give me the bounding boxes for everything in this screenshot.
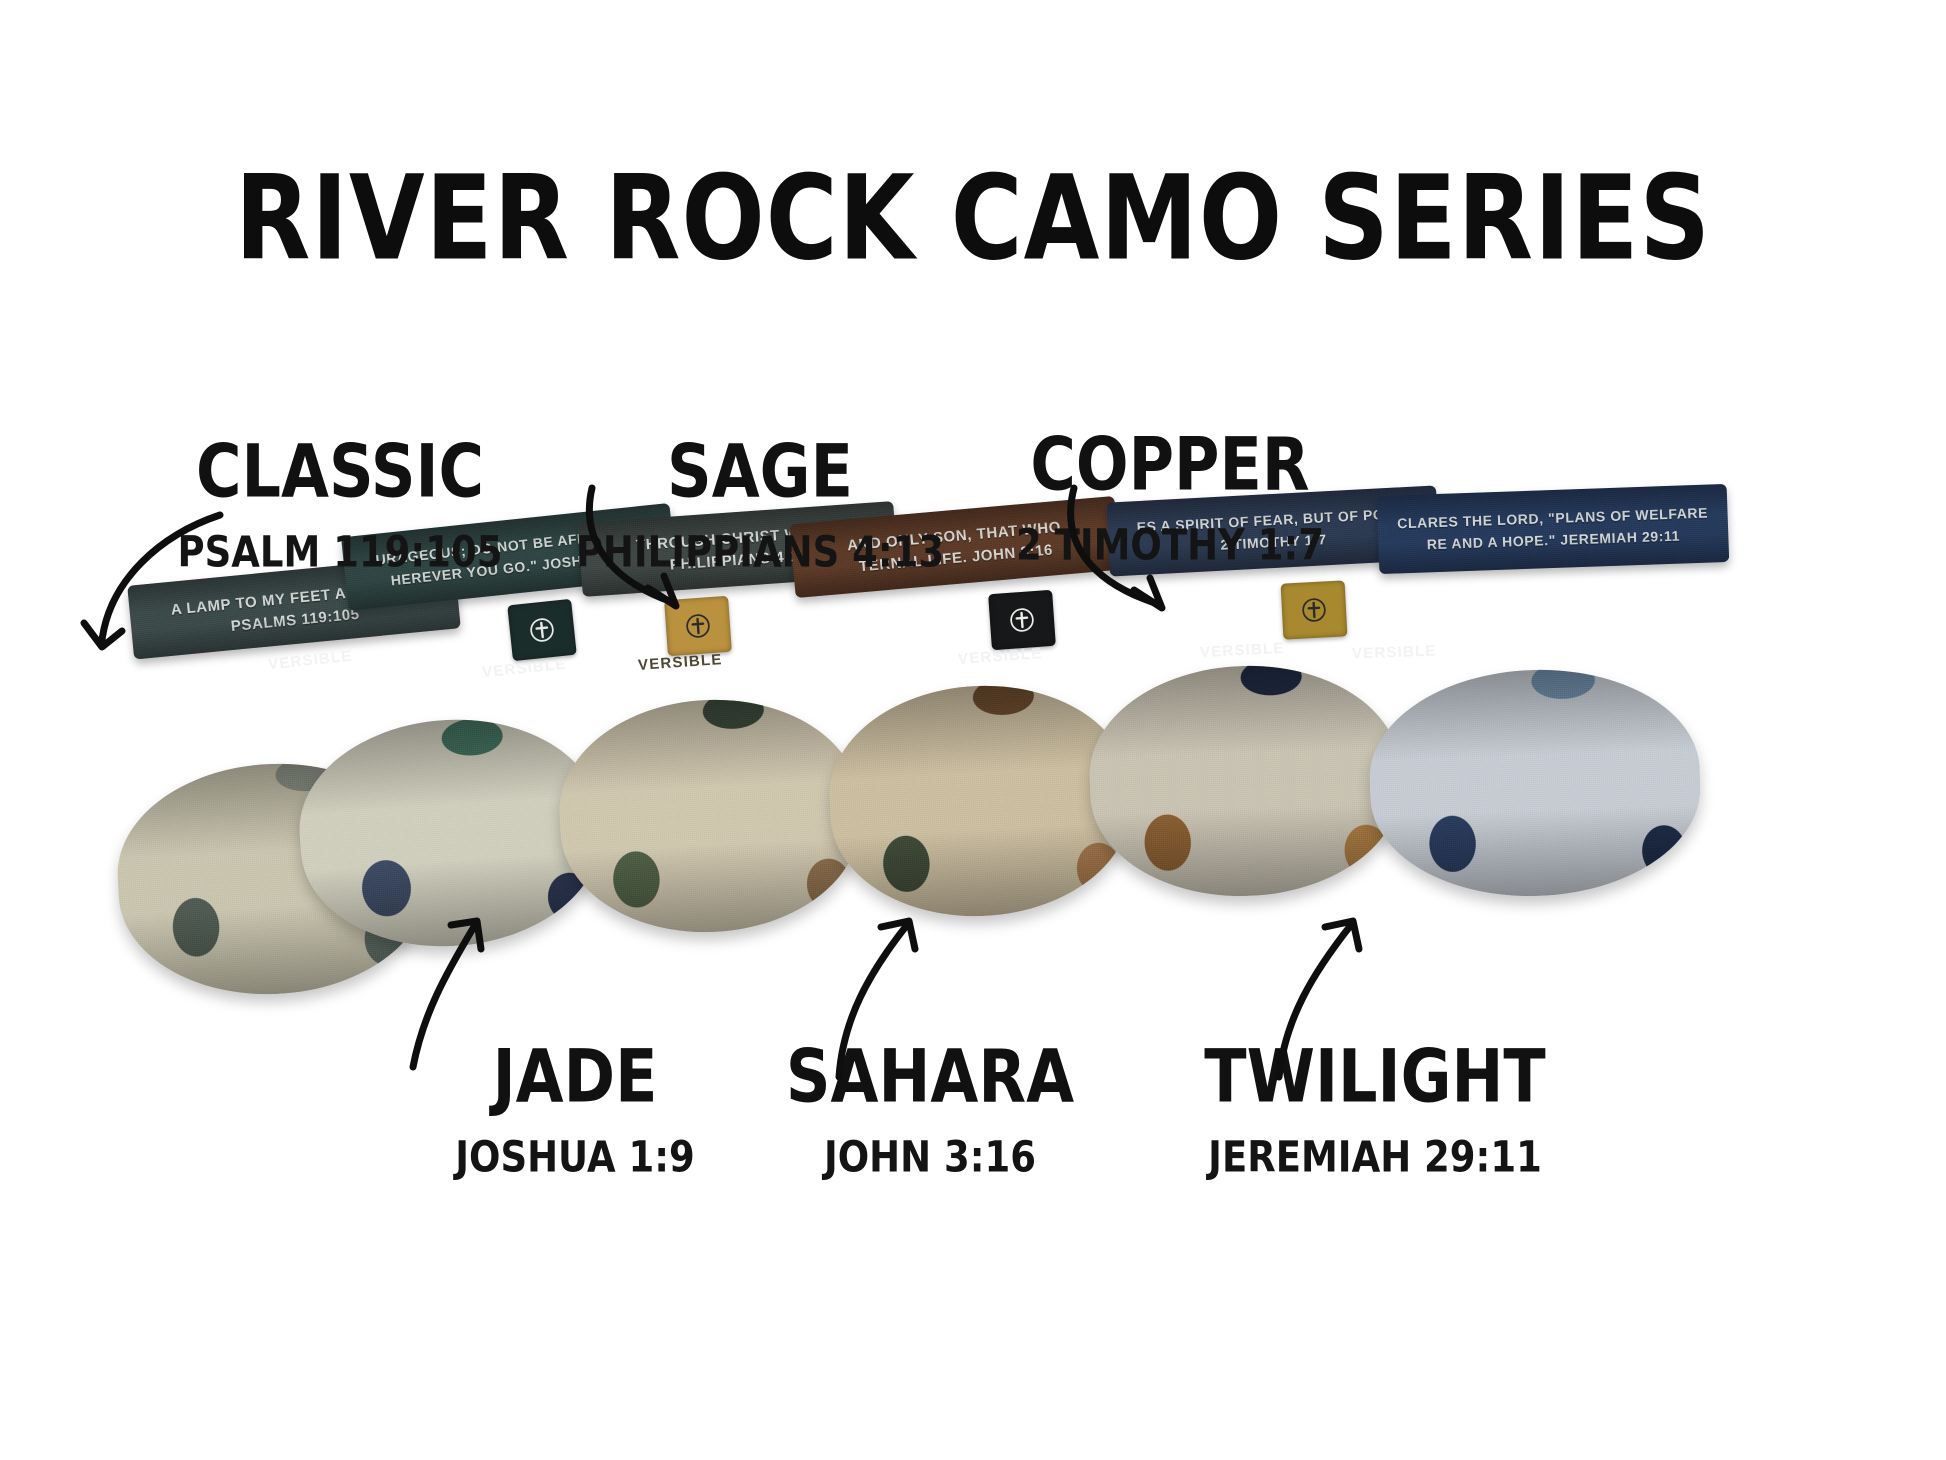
label-twilight: TWILIGHT JEREMIAH 29:11 [1140,1040,1610,1173]
versible-brand-tag [988,590,1056,650]
label-copper-verse: 2 TIMOTHY 1:7 [955,524,1385,567]
brand-text: VERSIBLE [1200,640,1285,661]
label-copper: COPPER 2 TIMOTHY 1:7 [955,428,1385,561]
brand-text: VERSIBLE [638,651,724,674]
bracelet-twilight-camo-loop [1366,664,1704,901]
cross-icon [528,616,557,645]
product-infographic: RIVER ROCK CAMO SERIES A LAMP TO MY FEET… [0,0,1946,1460]
label-sage-name: SAGE [540,435,980,508]
bracelet-twilight[interactable]: CLARES THE LORD, "PLANS OF WELFARE RE AN… [1370,630,1730,930]
label-classic: CLASSIC PSALM 119:105 [120,435,560,568]
label-sahara-verse: JOHN 3:16 [710,1136,1150,1179]
cross-icon [1008,606,1036,634]
brand-text: VERSIBLE [1352,643,1437,663]
label-twilight-name: TWILIGHT [1140,1040,1610,1113]
label-sahara: SAHARA JOHN 3:16 [710,1040,1150,1173]
label-sage-verse: PHILIPPIANS 4:13 [540,531,980,574]
cross-icon [1300,596,1327,623]
bracelet-copper-camo-loop [1086,661,1404,902]
brand-text: VERSIBLE [481,656,567,682]
label-classic-verse: PSALM 119:105 [120,531,560,574]
brand-text: VERSIBLE [958,645,1044,668]
versible-brand-tag [1281,580,1348,639]
bracelet-sage-camo-loop [554,692,866,939]
versible-brand-tag [664,596,732,656]
label-copper-name: COPPER [955,428,1385,501]
cross-icon [684,612,712,640]
label-sage: SAGE PHILIPPIANS 4:13 [540,435,980,568]
label-sahara-name: SAHARA [710,1040,1150,1113]
bracelet-twilight-engraved-strap: CLARES THE LORD, "PLANS OF WELFARE RE AN… [1377,484,1730,574]
page-title: RIVER ROCK CAMO SERIES [0,150,1946,287]
label-twilight-verse: JEREMIAH 29:11 [1140,1136,1610,1179]
label-classic-name: CLASSIC [120,435,560,508]
